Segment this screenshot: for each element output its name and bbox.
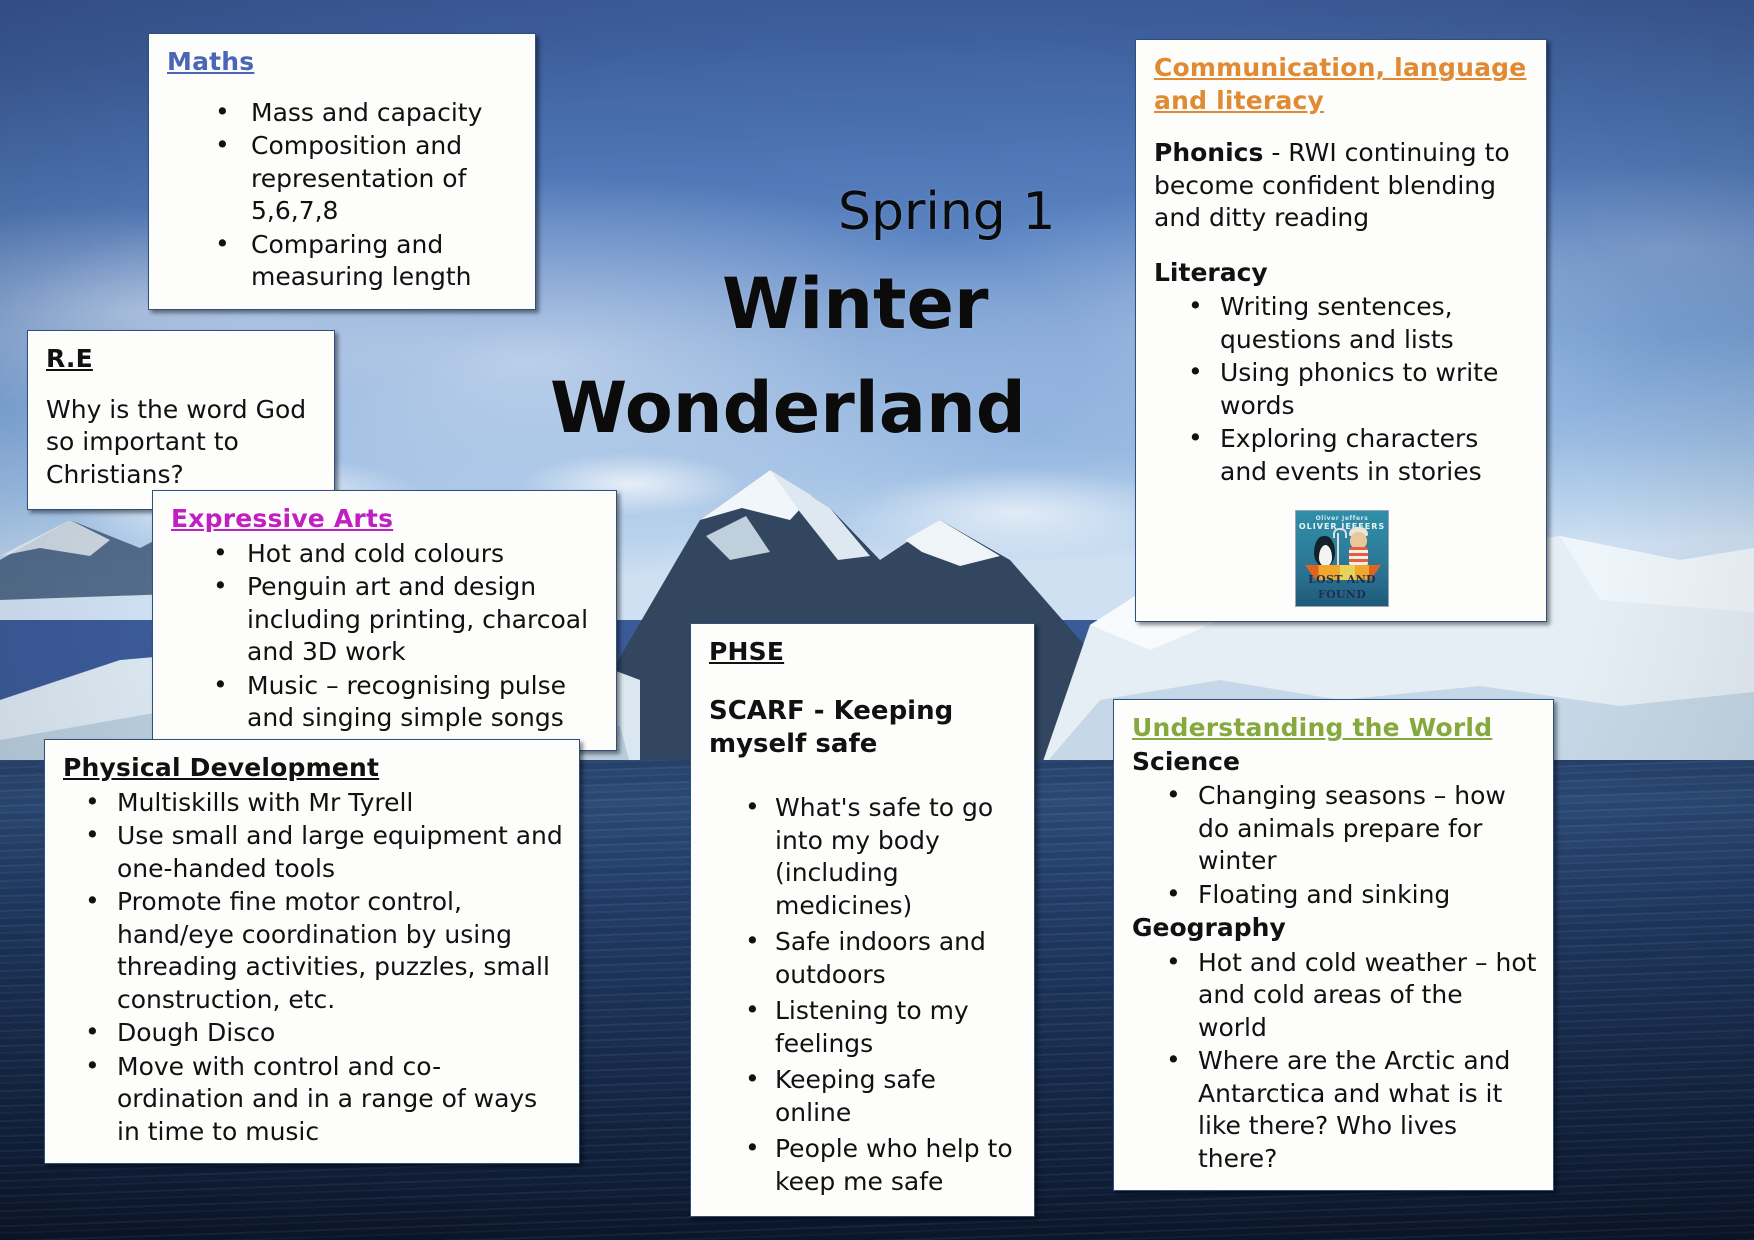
science-bullet-list: Changing seasons – how do animals prepar… xyxy=(1132,780,1537,911)
list-item: Comparing and measuring length xyxy=(167,229,519,294)
body-shape xyxy=(1349,547,1368,566)
book-cover-thumbnail-wrapper: Oliver Jeffers OLIVER JEFFERS LOST AND F… xyxy=(1154,510,1530,607)
card-communication-phonics: Phonics - RWI continuing to become confi… xyxy=(1154,137,1530,235)
list-item: Promote fine motor control, hand/eye coo… xyxy=(63,886,563,1016)
phonics-label: Phonics xyxy=(1154,138,1263,167)
list-item: Exploring characters and events in stori… xyxy=(1154,423,1530,488)
card-expressive-arts-bullet-list: Hot and cold colours Penguin art and des… xyxy=(171,538,600,735)
topic-title-line-1: Winter xyxy=(722,263,989,345)
card-expressive-arts: Expressive Arts Hot and cold colours Pen… xyxy=(152,490,617,751)
list-item: Changing seasons – how do animals prepar… xyxy=(1132,780,1537,878)
topic-title-line-2: Wonderland xyxy=(550,367,1026,449)
book-title-text: LOST AND FOUND xyxy=(1296,573,1388,602)
boy-icon xyxy=(1348,532,1370,566)
card-understanding-the-world: Understanding the World Science Changing… xyxy=(1113,699,1554,1191)
list-item: Use small and large equipment and one-ha… xyxy=(63,820,563,885)
book-cover-lost-and-found: Oliver Jeffers OLIVER JEFFERS LOST AND F… xyxy=(1295,510,1389,607)
card-communication-title: Communication, language and literacy xyxy=(1154,52,1530,117)
list-item: Penguin art and design including printin… xyxy=(171,571,600,669)
card-re-body: Why is the word God so important to Chri… xyxy=(46,394,318,492)
card-re-title: R.E xyxy=(46,343,318,376)
list-item: Hot and cold weather – hot and cold area… xyxy=(1132,947,1537,1045)
list-item: What's safe to go into my body (includin… xyxy=(709,792,1018,922)
card-maths: Maths Mass and capacity Composition and … xyxy=(148,33,536,310)
science-label: Science xyxy=(1132,746,1537,779)
card-phse-subheading: SCARF - Keeping myself safe xyxy=(709,695,1018,763)
card-communication-literacy-bullet-list: Writing sentences, questions and lists U… xyxy=(1154,291,1530,488)
card-phse-title: PHSE xyxy=(709,636,1018,669)
list-item: Keeping safe online xyxy=(709,1064,1018,1129)
list-item: Hot and cold colours xyxy=(171,538,600,571)
card-communication-language-literacy: Communication, language and literacy Pho… xyxy=(1135,39,1547,622)
list-item: Using phonics to write words xyxy=(1154,357,1530,422)
card-re: R.E Why is the word God so important to … xyxy=(27,330,335,510)
card-communication-literacy-label: Literacy xyxy=(1154,257,1530,290)
list-item: Floating and sinking xyxy=(1132,879,1537,912)
geography-label: Geography xyxy=(1132,912,1537,945)
card-expressive-arts-title: Expressive Arts xyxy=(171,503,600,536)
card-understanding-the-world-title: Understanding the World xyxy=(1132,712,1537,745)
list-item: Mass and capacity xyxy=(167,97,519,130)
list-item: Listening to my feelings xyxy=(709,995,1018,1060)
list-item: Where are the Arctic and Antarctica and … xyxy=(1132,1045,1537,1175)
list-item: People who help to keep me safe xyxy=(709,1133,1018,1198)
list-item: Composition and representation of 5,6,7,… xyxy=(167,130,519,228)
list-item: Writing sentences, questions and lists xyxy=(1154,291,1530,356)
lamp-post-icon xyxy=(1337,533,1339,568)
list-item: Music – recognising pulse and singing si… xyxy=(171,670,600,735)
list-item: Multiskills with Mr Tyrell xyxy=(63,787,563,820)
list-item: Move with control and co-ordination and … xyxy=(63,1051,563,1149)
card-physical-development: Physical Development Multiskills with Mr… xyxy=(44,739,580,1164)
list-item: Safe indoors and outdoors xyxy=(709,926,1018,991)
geography-bullet-list: Hot and cold weather – hot and cold area… xyxy=(1132,947,1537,1176)
penguin-icon xyxy=(1314,536,1335,566)
card-maths-title: Maths xyxy=(167,46,519,79)
card-maths-bullet-list: Mass and capacity Composition and repres… xyxy=(167,97,519,294)
card-phse: PHSE SCARF - Keeping myself safe What's … xyxy=(690,623,1035,1217)
list-item: Dough Disco xyxy=(63,1017,563,1050)
card-phse-bullet-list: What's safe to go into my body (includin… xyxy=(709,792,1018,1198)
term-label: Spring 1 xyxy=(838,182,1055,242)
topic-web-poster: Spring 1 Winter Wonderland Maths Mass an… xyxy=(0,0,1754,1240)
card-physical-development-bullet-list: Multiskills with Mr Tyrell Use small and… xyxy=(63,787,563,1149)
card-physical-development-title: Physical Development xyxy=(63,752,563,785)
